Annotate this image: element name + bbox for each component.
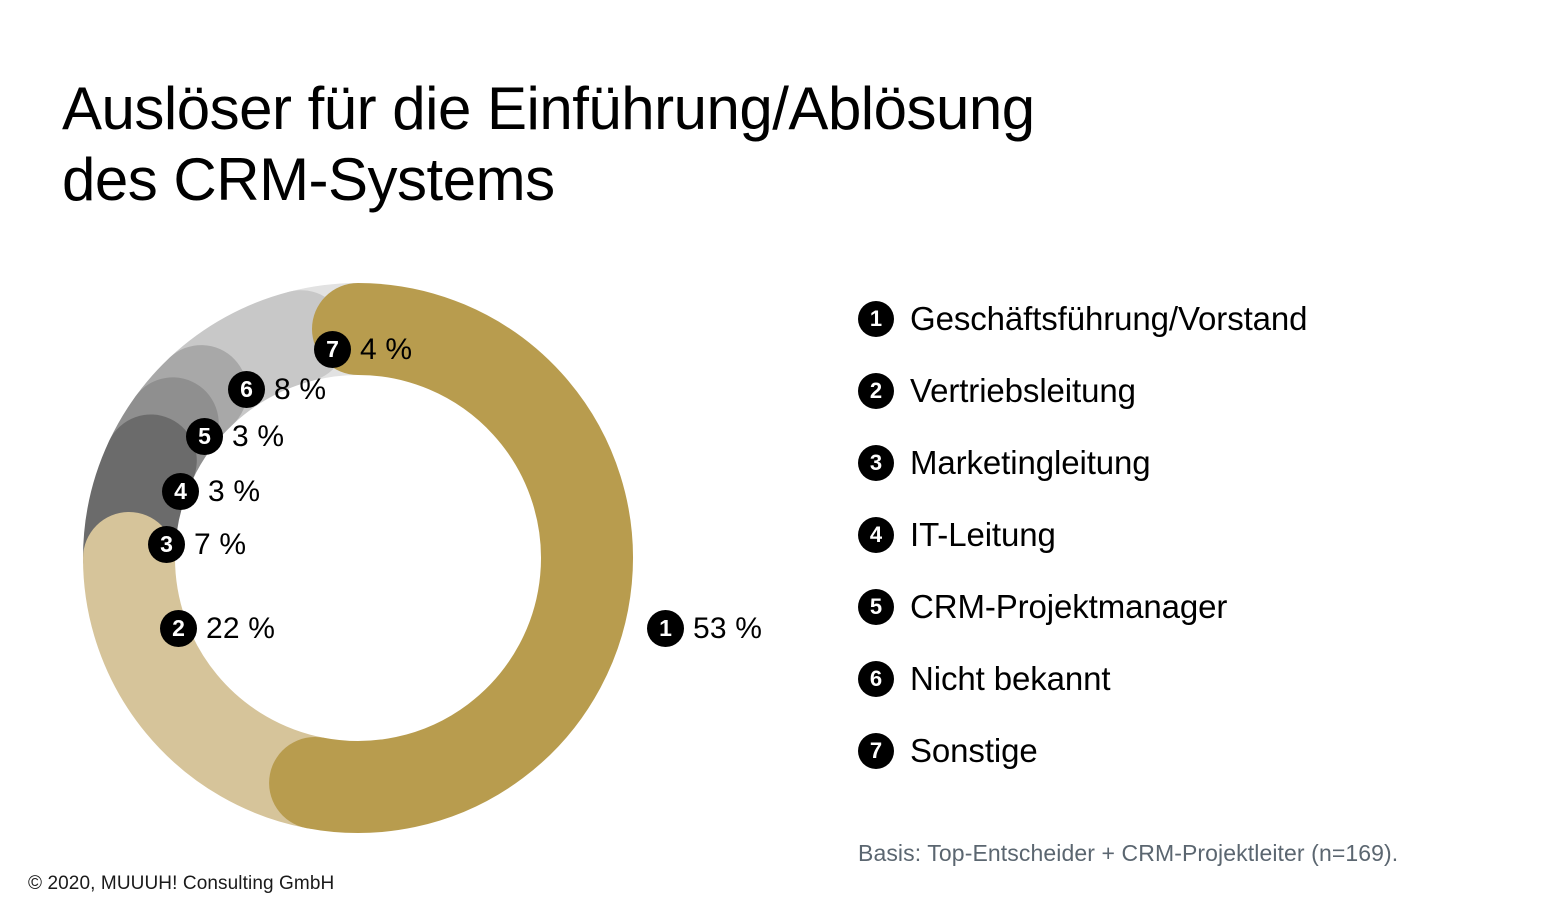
legend-item-4[interactable]: 4 IT-Leitung: [858, 499, 1498, 571]
data-value-5: 3 %: [232, 420, 284, 454]
data-value-2: 22 %: [206, 612, 275, 646]
legend-label-4: IT-Leitung: [910, 516, 1056, 554]
legend-label-2: Vertriebsleitung: [910, 372, 1136, 410]
page-title: Auslöser für die Einführung/Ablösung des…: [62, 74, 1212, 216]
data-label-6: 6 8 %: [228, 371, 326, 408]
data-label-5: 5 3 %: [186, 418, 284, 455]
data-value-4: 3 %: [208, 475, 260, 509]
bullet-1: 1: [647, 610, 684, 647]
legend-bullet-6: 6: [858, 661, 894, 697]
data-label-7: 7 4 %: [314, 331, 412, 368]
legend-item-3[interactable]: 3 Marketingleitung: [858, 427, 1498, 499]
legend-bullet-2: 2: [858, 373, 894, 409]
legend: 1 Geschäftsführung/Vorstand 2 Vertriebsl…: [858, 283, 1498, 787]
data-label-3: 3 7 %: [148, 526, 246, 563]
data-label-1: 1 53 %: [647, 610, 762, 647]
legend-label-5: CRM-Projektmanager: [910, 588, 1227, 626]
data-value-7: 4 %: [360, 333, 412, 367]
copyright-notice: © 2020, MUUUH! Consulting GmbH: [28, 873, 334, 895]
legend-bullet-1: 1: [858, 301, 894, 337]
legend-label-1: Geschäftsführung/Vorstand: [910, 300, 1307, 338]
bullet-3: 3: [148, 526, 185, 563]
data-label-2: 2 22 %: [160, 610, 275, 647]
bullet-7: 7: [314, 331, 351, 368]
legend-label-6: Nicht bekannt: [910, 660, 1111, 698]
bullet-5: 5: [186, 418, 223, 455]
legend-bullet-4: 4: [858, 517, 894, 553]
bullet-6: 6: [228, 371, 265, 408]
legend-item-2[interactable]: 2 Vertriebsleitung: [858, 355, 1498, 427]
bullet-4: 4: [162, 473, 199, 510]
legend-label-7: Sonstige: [910, 732, 1038, 770]
data-value-3: 7 %: [194, 528, 246, 562]
legend-label-3: Marketingleitung: [910, 444, 1151, 482]
legend-bullet-5: 5: [858, 589, 894, 625]
donut-segment-1[interactable]: [315, 329, 587, 787]
legend-bullet-3: 3: [858, 445, 894, 481]
legend-item-6[interactable]: 6 Nicht bekannt: [858, 643, 1498, 715]
data-label-4: 4 3 %: [162, 473, 260, 510]
basis-note: Basis: Top-Entscheider + CRM-Projektleit…: [858, 840, 1398, 867]
bullet-2: 2: [160, 610, 197, 647]
legend-bullet-7: 7: [858, 733, 894, 769]
data-value-6: 8 %: [274, 373, 326, 407]
legend-item-7[interactable]: 7 Sonstige: [858, 715, 1498, 787]
legend-item-5[interactable]: 5 CRM-Projektmanager: [858, 571, 1498, 643]
legend-item-1[interactable]: 1 Geschäftsführung/Vorstand: [858, 283, 1498, 355]
data-value-1: 53 %: [693, 612, 762, 646]
